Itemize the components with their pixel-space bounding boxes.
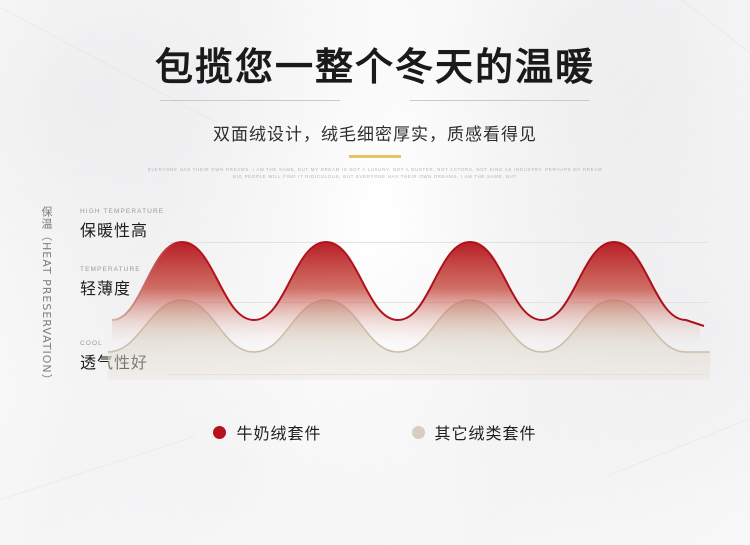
y-tick-cool-en: COOL [80, 340, 148, 347]
legend-item-milk-fleece[interactable]: 牛奶绒套件 [213, 420, 321, 444]
y-tick-high-temperature-cn: 保暖性高 [80, 217, 164, 241]
gridline-high [168, 242, 708, 243]
legend-label-other-fleece: 其它绒类套件 [435, 420, 537, 444]
fine-print-line-2: BIG PEOPLE WILL FIND IT RIDICULOUS, BUT … [0, 173, 750, 180]
series-other-fleece [108, 300, 710, 380]
page-subtitle: 双面绒设计，绒毛细密厚实，质感看得见 [0, 120, 750, 145]
y-tick-cool: COOL 透气性好 [80, 340, 148, 373]
marble-vein [0, 436, 195, 505]
gridline-low [168, 374, 708, 375]
y-tick-temperature: TEMPERATURE 轻薄度 [80, 266, 141, 299]
fine-print: EVERYONE HAS THEIR OWN DREAMS, I AM THE … [0, 166, 750, 180]
y-tick-high-temperature-en: HIGH TEMPERATURE [80, 208, 164, 215]
page-title: 包揽您一整个冬天的温暖 [0, 36, 750, 91]
y-tick-cool-cn: 透气性好 [80, 349, 148, 373]
y-tick-temperature-cn: 轻薄度 [80, 275, 141, 299]
legend-dot-beige [412, 426, 425, 439]
chart-y-axis-label: 保温（HEAT PRESERVATION） [38, 206, 54, 386]
gridline-mid [168, 302, 708, 303]
legend-label-milk-fleece: 牛奶绒套件 [236, 420, 321, 444]
y-tick-temperature-en: TEMPERATURE [80, 266, 141, 273]
legend-dot-red [213, 426, 226, 439]
gold-divider [349, 155, 401, 158]
y-tick-high-temperature: HIGH TEMPERATURE 保暖性高 [80, 208, 164, 241]
chart-legend: 牛奶绒套件 其它绒类套件 [0, 420, 750, 444]
fine-print-line-1: EVERYONE HAS THEIR OWN DREAMS, I AM THE … [0, 166, 750, 173]
title-rule-left [160, 100, 340, 101]
legend-item-other-fleece[interactable]: 其它绒类套件 [412, 420, 537, 444]
series-milk-fleece [112, 242, 704, 346]
page-root: 包揽您一整个冬天的温暖 双面绒设计，绒毛细密厚实，质感看得见 EVERYONE … [0, 0, 750, 545]
title-rule-right [410, 100, 590, 101]
